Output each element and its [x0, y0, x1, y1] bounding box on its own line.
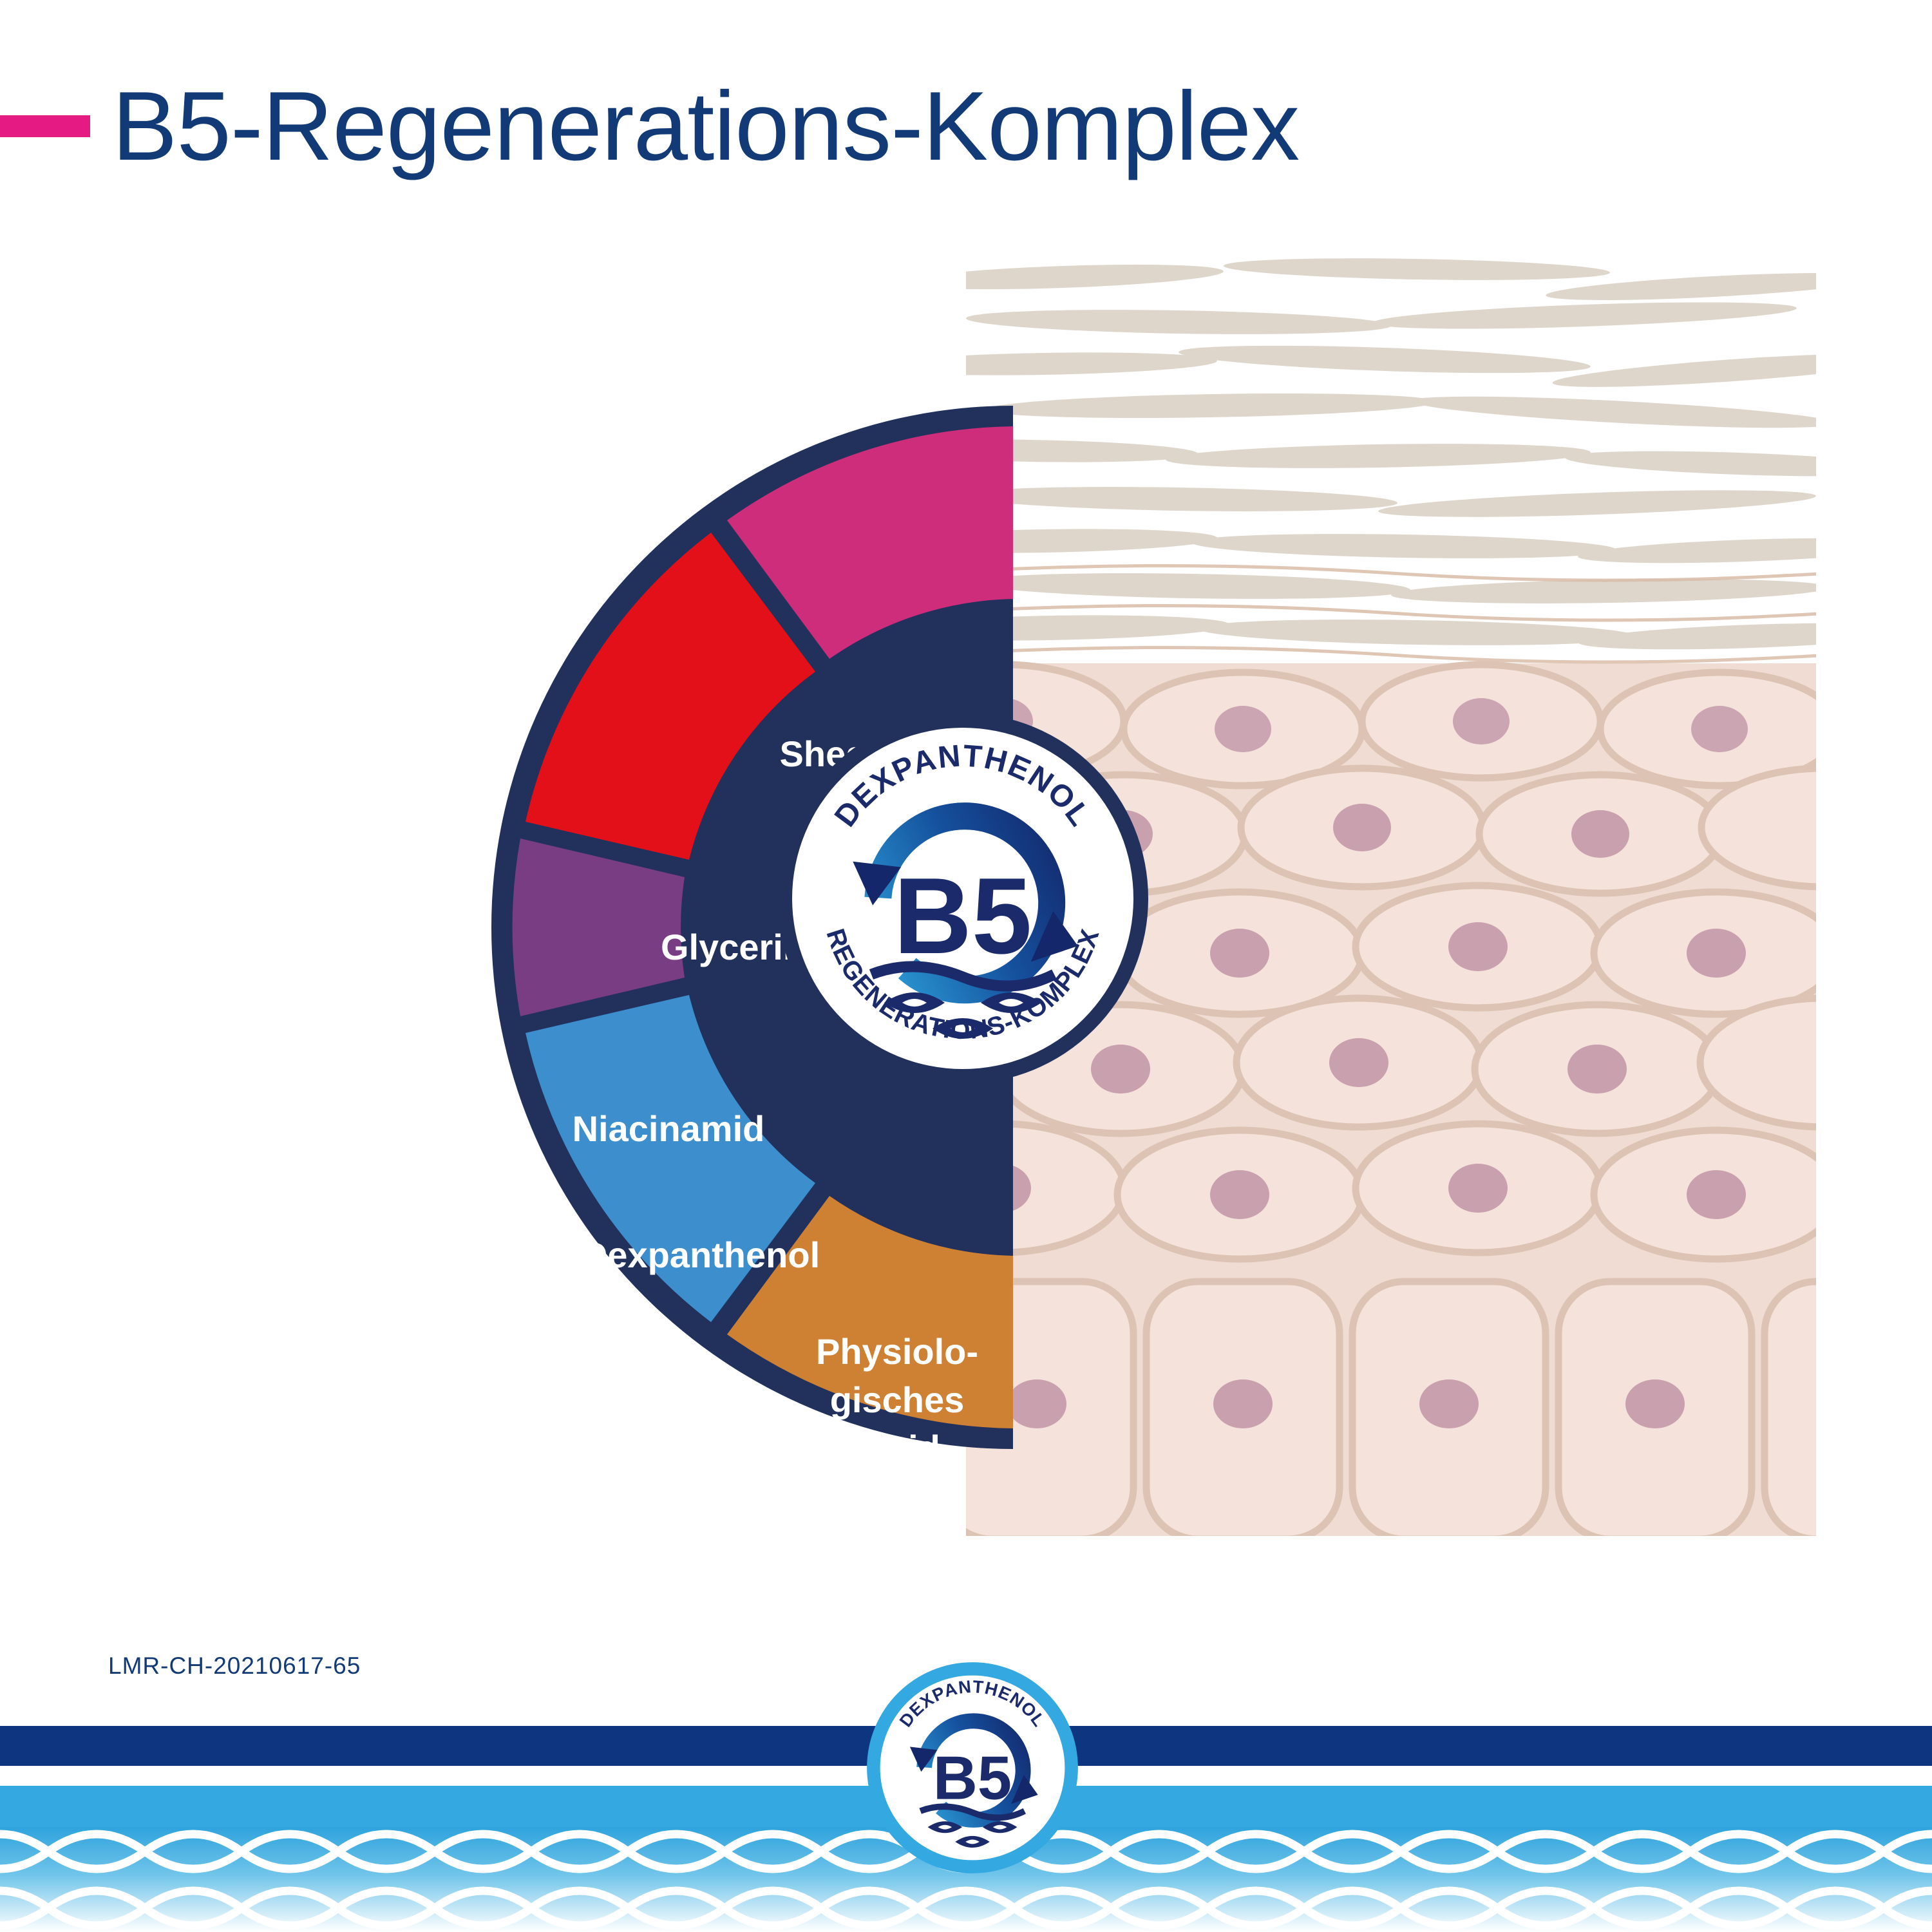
- b5-center-badge: DEXPANTHENOL REGENERATIONS-KOMPLEX B5: [776, 712, 1150, 1085]
- accent-dash-icon: [0, 115, 90, 137]
- pie-label-dexpanthenol: Dexpanthenol: [582, 1235, 820, 1275]
- pie-label-lipid-line3: Lipid: [854, 1428, 940, 1468]
- stratum-corneum-cells: [966, 256, 1816, 654]
- title-text: B5-Regenerations-Komplex: [112, 77, 1299, 175]
- pie-label-lipid-line1: Physiolo-: [816, 1331, 978, 1372]
- b5-footer-badge: DEXPANTHENOL REGENERATIONS-KOMPLEX B5: [866, 1662, 1079, 1874]
- b5-badge-svg: DEXPANTHENOL REGENERATIONS-KOMPLEX B5: [776, 712, 1150, 1085]
- document-code: LMR-CH-20210617-65: [108, 1653, 361, 1680]
- page-title: B5-Regenerations-Komplex: [0, 77, 1299, 175]
- b5-footer-badge-svg: DEXPANTHENOL REGENERATIONS-KOMPLEX B5: [866, 1662, 1079, 1874]
- pie-label-niacinamid: Niacinamid: [573, 1108, 765, 1149]
- pie-label-lipid-line2: gisches: [830, 1379, 965, 1420]
- footer-badge-center-text: B5: [933, 1743, 1012, 1812]
- infographic-canvas: B5-Regenerations-Komplex Sheabutter, Arg: [0, 0, 1932, 1932]
- badge-center-text: B5: [894, 855, 1032, 976]
